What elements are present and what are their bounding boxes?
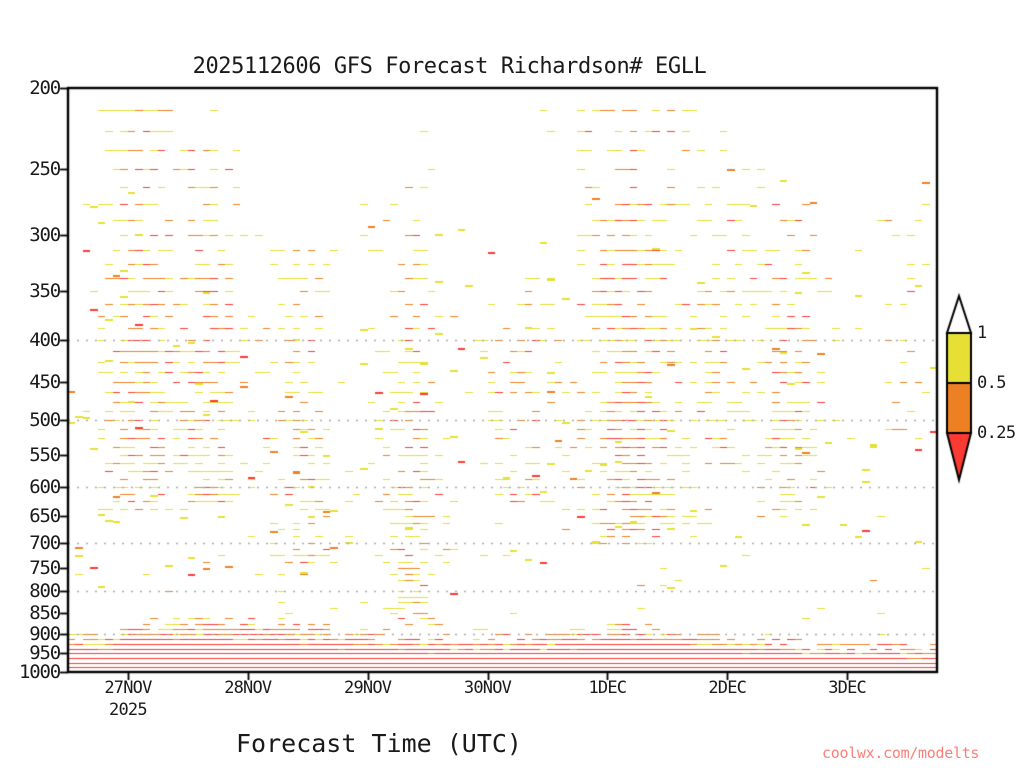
y-tick-1000: 1000 — [2, 661, 60, 683]
y-tick-350: 350 — [2, 280, 60, 302]
y-tick-750: 750 — [2, 557, 60, 579]
x-tick-27NOV: 27NOV — [104, 678, 151, 698]
y-tick-800: 800 — [2, 580, 60, 602]
chart-title: 2025112606 GFS Forecast Richardson# EGLL — [0, 54, 1024, 79]
x-tick-3DEC: 3DEC — [828, 678, 866, 698]
richardson-number-heatmap — [0, 0, 1024, 768]
x-tick-30NOV: 30NOV — [464, 678, 511, 698]
colorbar-tick-0.25: 0.25 — [977, 423, 1016, 443]
chart-figure: 2025112606 GFS Forecast Richardson# EGLL… — [0, 0, 1024, 768]
watermark-link[interactable]: coolwx.com/modelts — [822, 744, 979, 762]
y-tick-300: 300 — [2, 224, 60, 246]
chart-title-text: 2025112606 GFS Forecast Richardson# EGLL — [193, 54, 707, 79]
y-tick-250: 250 — [2, 158, 60, 180]
x-tick-2DEC: 2DEC — [708, 678, 746, 698]
y-tick-550: 550 — [2, 444, 60, 466]
y-tick-400: 400 — [2, 329, 60, 351]
x-tick-year: 2025 — [109, 700, 147, 720]
x-tick-1DEC: 1DEC — [589, 678, 627, 698]
y-axis-tick-labels: 2002503003504004505005506006507007508008… — [0, 0, 60, 768]
y-tick-650: 650 — [2, 505, 60, 527]
x-axis-title: Forecast Time (UTC) — [0, 729, 891, 758]
y-tick-450: 450 — [2, 371, 60, 393]
y-tick-200: 200 — [2, 77, 60, 99]
y-tick-700: 700 — [2, 532, 60, 554]
y-tick-850: 850 — [2, 602, 60, 624]
y-tick-600: 600 — [2, 476, 60, 498]
x-tick-29NOV: 29NOV — [344, 678, 391, 698]
colorbar-tick-1: 1 — [977, 323, 987, 343]
x-tick-28NOV: 28NOV — [224, 678, 271, 698]
y-tick-500: 500 — [2, 409, 60, 431]
colorbar-tick-0.5: 0.5 — [977, 373, 1006, 393]
